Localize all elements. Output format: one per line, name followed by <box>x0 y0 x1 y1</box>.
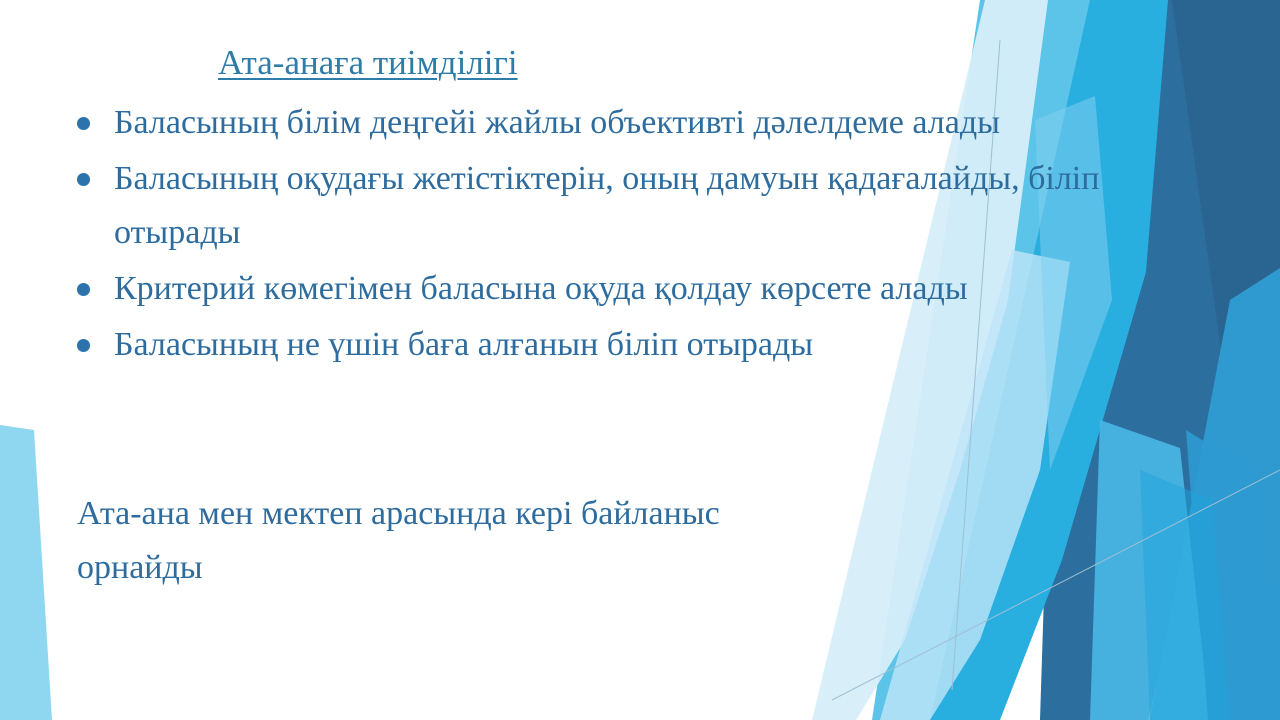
bullet-dot-icon <box>77 283 90 296</box>
bullet-item-text: Баласының оқудағы жетістіктерін, оның да… <box>114 160 1099 251</box>
bullet-dot-icon <box>77 339 90 352</box>
slide-content: Ата-анаға тиімділігі Баласының білім дең… <box>0 0 1280 720</box>
bullet-item: Баласының оқудағы жетістіктерін, оның да… <box>72 152 1107 260</box>
bullet-item: Баласының білім деңгейі жайлы объективті… <box>72 96 1107 150</box>
benefits-bullet-list: Баласының білім деңгейі жайлы объективті… <box>72 96 1107 374</box>
bullet-dot-icon <box>77 117 90 130</box>
bullet-item-text: Баласының білім деңгейі жайлы объективті… <box>114 104 1000 141</box>
closing-paragraph: Ата-ана мен мектеп арасында кері байланы… <box>77 487 1077 595</box>
bullet-dot-icon <box>77 173 90 186</box>
bullet-item: Критерий көмегімен баласына оқуда қолдау… <box>72 262 1107 316</box>
bullet-item-text: Критерий көмегімен баласына оқуда қолдау… <box>114 270 968 307</box>
bullet-item: Баласының не үшін баға алғанын біліп оты… <box>72 318 1107 372</box>
closing-line: Ата-ана мен мектеп арасында кері байланы… <box>77 487 1077 541</box>
closing-line: орнайды <box>77 541 1077 595</box>
slide: Ата-анаға тиімділігі Баласының білім дең… <box>0 0 1280 720</box>
slide-title: Ата-анаға тиімділігі <box>218 42 518 83</box>
bullet-item-text: Баласының не үшін баға алғанын біліп оты… <box>114 326 813 363</box>
